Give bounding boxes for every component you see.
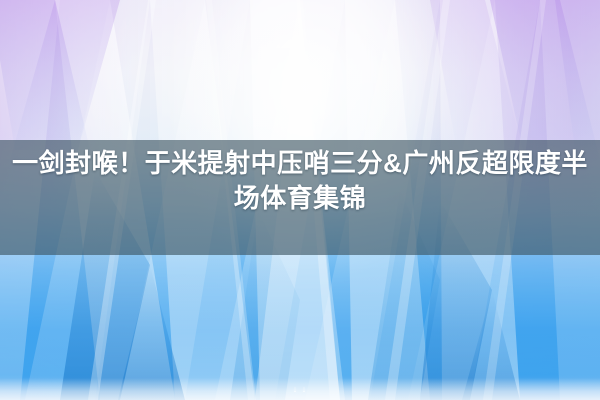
caption-line-1: 一剑封喉！于米提射中压哨三分&广州反超限度半 <box>2 146 598 181</box>
thumbnail-image: ↓ ↓ 一剑封喉！于米提射中压哨三分&广州反超限度半 场体育集锦 <box>0 0 600 400</box>
caption-overlay-band: 一剑封喉！于米提射中压哨三分&广州反超限度半 场体育集锦 <box>0 140 600 255</box>
bottom-watermark: ↓ ↓ <box>293 384 308 394</box>
caption-line-2: 场体育集锦 <box>234 181 367 216</box>
